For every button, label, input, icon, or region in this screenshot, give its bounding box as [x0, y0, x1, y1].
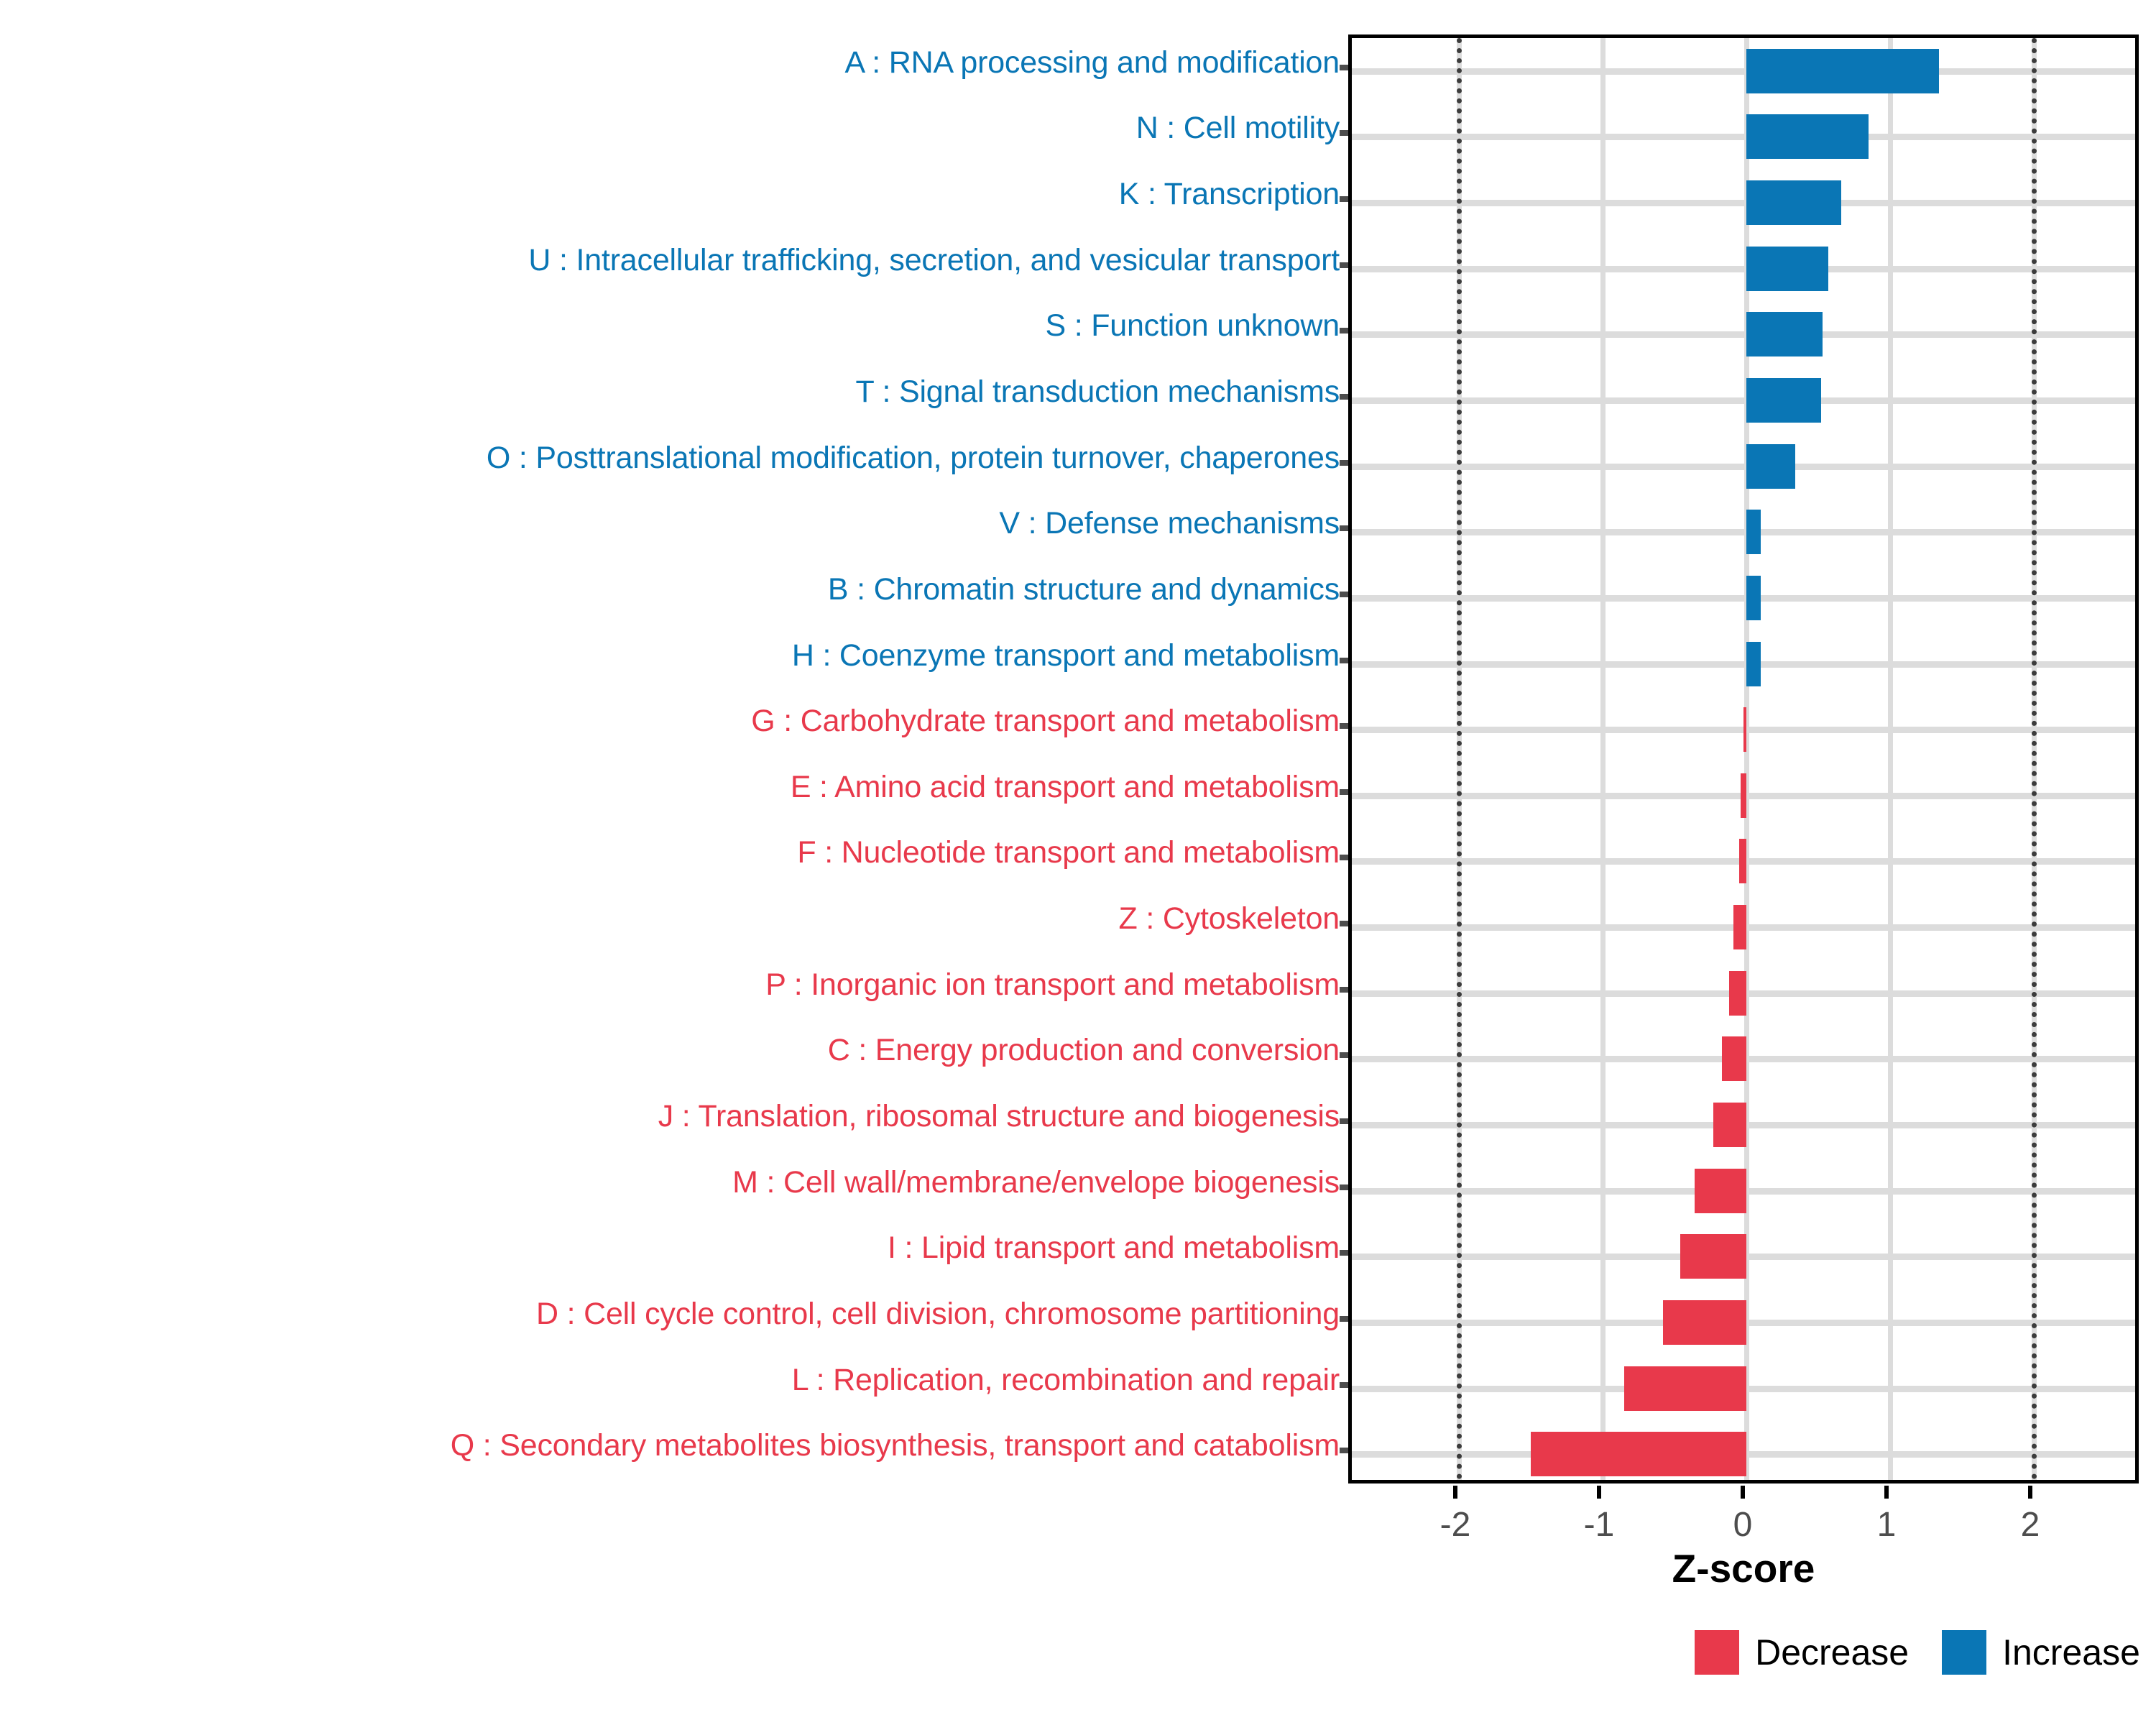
legend-swatch	[1942, 1630, 1986, 1675]
x-axis-title: Z-score	[1348, 1545, 2139, 1591]
horizontal-gridline	[1352, 529, 2135, 535]
x-axis-tick-label: 2	[2021, 1505, 2040, 1545]
bar[interactable]	[1695, 1169, 1746, 1213]
bar[interactable]	[1531, 1432, 1746, 1476]
horizontal-gridline	[1352, 595, 2135, 602]
bar[interactable]	[1722, 1036, 1746, 1081]
bar[interactable]	[1746, 247, 1828, 291]
x-axis-tick-label: -2	[1440, 1505, 1471, 1545]
bar[interactable]	[1746, 312, 1823, 356]
category-label: H : Coenzyme transport and metabolism	[0, 640, 1340, 671]
bar[interactable]	[1746, 444, 1795, 489]
category-label: T : Signal transduction mechanisms	[0, 377, 1340, 408]
horizontal-gridline	[1352, 397, 2135, 404]
bar[interactable]	[1624, 1366, 1746, 1411]
bar[interactable]	[1746, 510, 1761, 554]
category-label: G : Carbohydrate transport and metabolis…	[0, 706, 1340, 737]
bar[interactable]	[1741, 773, 1746, 818]
legend-swatch	[1695, 1630, 1739, 1675]
bar[interactable]	[1746, 49, 1939, 93]
category-label: J : Translation, ribosomal structure and…	[0, 1101, 1340, 1132]
bar[interactable]	[1729, 971, 1746, 1016]
reference-line	[2032, 38, 2037, 1480]
vertical-gridline	[1888, 38, 1893, 1480]
x-axis-tick	[2028, 1486, 2032, 1499]
legend-item[interactable]: Decrease	[1695, 1630, 1909, 1675]
category-label: S : Function unknown	[0, 310, 1340, 341]
bar[interactable]	[1713, 1103, 1746, 1147]
cog-zscore-bar-chart: A : RNA processing and modificationN : C…	[0, 0, 2156, 1725]
category-label: D : Cell cycle control, cell division, c…	[0, 1299, 1340, 1330]
x-axis-tick-label: -1	[1584, 1505, 1615, 1545]
horizontal-gridline	[1352, 68, 2135, 75]
x-axis-tick	[1453, 1486, 1457, 1499]
category-label: K : Transcription	[0, 179, 1340, 210]
x-axis-tick-label: 0	[1733, 1505, 1753, 1545]
category-label: V : Defense mechanisms	[0, 508, 1340, 539]
bar[interactable]	[1743, 707, 1746, 752]
category-label: U : Intracellular trafficking, secretion…	[0, 245, 1340, 276]
legend-item[interactable]: Increase	[1942, 1630, 2140, 1675]
bar[interactable]	[1746, 378, 1821, 423]
category-label: B : Chromatin structure and dynamics	[0, 574, 1340, 605]
category-label: I : Lipid transport and metabolism	[0, 1233, 1340, 1264]
bar[interactable]	[1739, 839, 1746, 883]
category-label: N : Cell motility	[0, 113, 1340, 144]
bar[interactable]	[1746, 180, 1841, 225]
x-axis-tick	[1597, 1486, 1601, 1499]
category-label: F : Nucleotide transport and metabolism	[0, 837, 1340, 868]
chart-legend: DecreaseIncrease	[1348, 1630, 2156, 1675]
plot-area	[1352, 38, 2135, 1480]
horizontal-gridline	[1352, 661, 2135, 668]
category-label: L : Replication, recombination and repai…	[0, 1365, 1340, 1396]
bar[interactable]	[1746, 576, 1761, 620]
horizontal-gridline	[1352, 200, 2135, 206]
bar[interactable]	[1746, 114, 1869, 159]
x-axis-tick	[1741, 1486, 1745, 1499]
category-label: P : Inorganic ion transport and metaboli…	[0, 970, 1340, 1000]
reference-line	[1457, 38, 1462, 1480]
category-label: M : Cell wall/membrane/envelope biogenes…	[0, 1167, 1340, 1198]
x-axis-tick	[1884, 1486, 1889, 1499]
category-label: Z : Cytoskeleton	[0, 903, 1340, 934]
horizontal-gridline	[1352, 464, 2135, 470]
x-axis-tick-label: 1	[1877, 1505, 1897, 1545]
horizontal-gridline	[1352, 134, 2135, 140]
category-label: Q : Secondary metabolites biosynthesis, …	[0, 1430, 1340, 1461]
plot-panel	[1348, 34, 2139, 1483]
category-label: O : Posttranslational modification, prot…	[0, 443, 1340, 474]
bar[interactable]	[1746, 642, 1761, 686]
bar[interactable]	[1680, 1234, 1746, 1279]
category-label: A : RNA processing and modification	[0, 47, 1340, 78]
legend-label: Increase	[2002, 1632, 2140, 1673]
horizontal-gridline	[1352, 266, 2135, 272]
bar[interactable]	[1733, 905, 1746, 949]
vertical-gridline	[1600, 38, 1606, 1480]
category-label: E : Amino acid transport and metabolism	[0, 772, 1340, 803]
category-axis-labels: A : RNA processing and modificationN : C…	[0, 34, 1340, 1483]
horizontal-gridline	[1352, 331, 2135, 338]
legend-label: Decrease	[1755, 1632, 1909, 1673]
bar[interactable]	[1663, 1300, 1746, 1345]
category-label: C : Energy production and conversion	[0, 1035, 1340, 1066]
